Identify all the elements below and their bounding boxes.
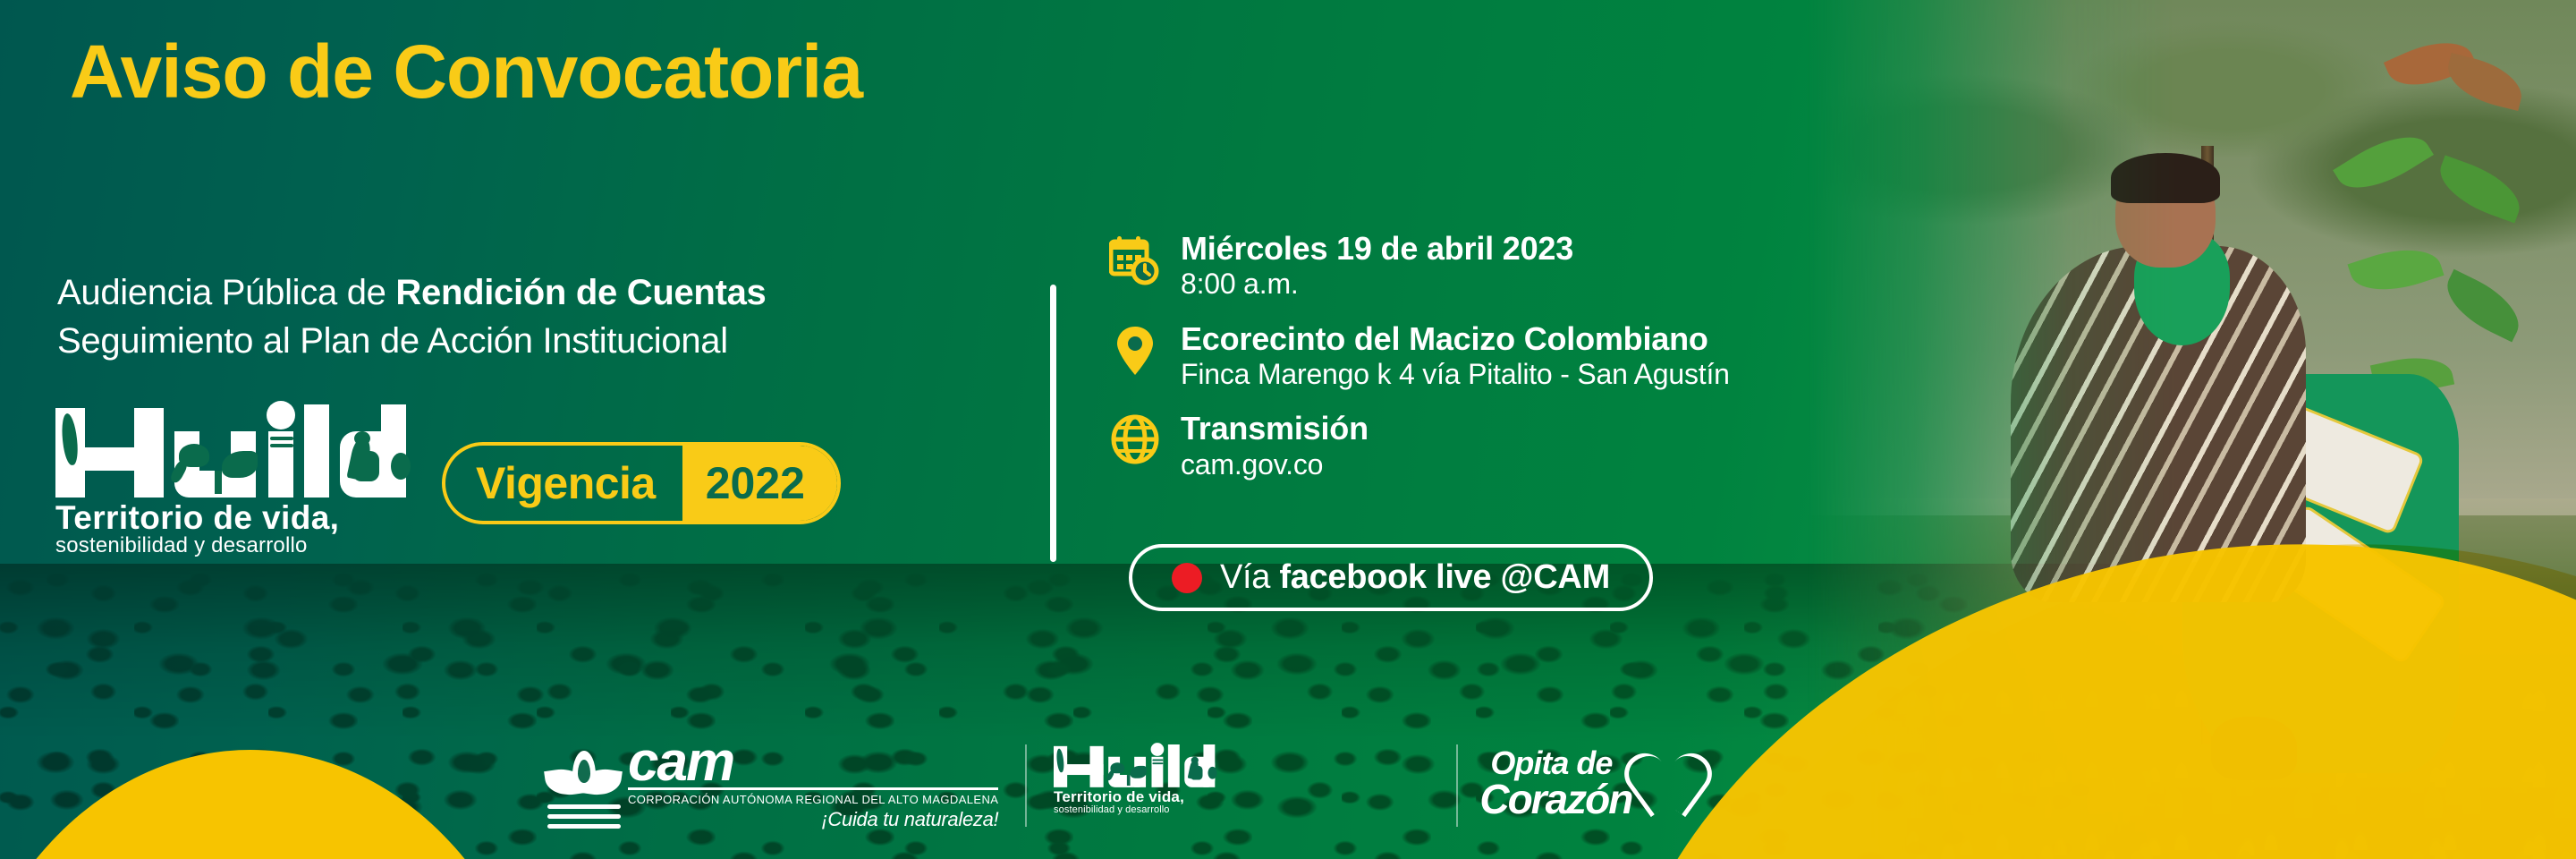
- subtitle-line-1-plain: Audiencia Pública de: [57, 273, 395, 312]
- detail-date-time: 8:00 a.m.: [1181, 267, 1573, 301]
- cam-wordmark: cam: [628, 740, 998, 786]
- opita-line-2: Corazón: [1479, 775, 1631, 823]
- huila-footer-tagline-1: Territorio de vida,: [1054, 789, 1226, 804]
- aviso-de-convocatoria-banner: Aviso de Convocatoria Audiencia Pública …: [0, 0, 2576, 859]
- globe-icon: [1107, 411, 1163, 464]
- vigencia-badge: Vigencia 2022: [442, 442, 841, 524]
- logo-separator: [1456, 744, 1458, 827]
- subtitle-line-1-bold: Rendición de Cuentas: [395, 273, 766, 312]
- huila-footer-tagline-2: sostenibilidad y desarrollo: [1054, 804, 1226, 815]
- facebook-handle: facebook live @CAM: [1279, 558, 1610, 596]
- opita-de-corazon-logo: Opita de Corazón: [1485, 743, 1708, 829]
- huila-tagline-1: Territorio de vida,: [55, 501, 422, 534]
- cam-full-name: CORPORACIÓN AUTÓNOMA REGIONAL DEL ALTO M…: [628, 787, 998, 806]
- logo-separator: [1025, 744, 1027, 827]
- heart-outline-icon: [1628, 739, 1714, 821]
- huila-sun-icon: [267, 401, 295, 429]
- vigencia-year: 2022: [682, 446, 837, 521]
- detail-date-main: Miércoles 19 de abril 2023: [1181, 231, 1573, 267]
- footer-logo-strip: cam CORPORACIÓN AUTÓNOMA REGIONAL DEL AL…: [546, 696, 1708, 859]
- page-title: Aviso de Convocatoria: [70, 34, 862, 109]
- huila-sun-icon-footer: [1151, 743, 1165, 756]
- vertical-divider: [1050, 285, 1056, 562]
- cam-logo: cam CORPORACIÓN AUTÓNOMA REGIONAL DEL AL…: [546, 740, 998, 831]
- huila-water-motif: [270, 437, 293, 440]
- huila-logo-footer: Territorio de vida, sostenibilidad y des…: [1054, 696, 1429, 859]
- cam-slogan: ¡Cuida tu naturaleza!: [628, 808, 998, 831]
- detail-row-stream: Transmisión cam.gov.co: [1107, 411, 2002, 481]
- detail-stream-url: cam.gov.co: [1181, 447, 1368, 481]
- cam-leaf-water-icon: [546, 749, 623, 831]
- facebook-prefix: Vía: [1220, 558, 1279, 596]
- event-details: Miércoles 19 de abril 2023 8:00 a.m. Eco…: [1107, 231, 2002, 501]
- detail-location-main: Ecorecinto del Macizo Colombiano: [1181, 321, 1730, 357]
- photo-hair: [2111, 153, 2221, 203]
- subtitle: Audiencia Pública de Rendición de Cuenta…: [57, 268, 766, 366]
- huila-wordmark-footer: [1054, 744, 1226, 787]
- huila-logo: Territorio de vida, sostenibilidad y des…: [55, 404, 422, 557]
- subtitle-line-1: Audiencia Pública de Rendición de Cuenta…: [57, 268, 766, 317]
- detail-row-date: Miércoles 19 de abril 2023 8:00 a.m.: [1107, 231, 2002, 302]
- calendar-clock-icon: [1107, 231, 1163, 286]
- huila-tagline-2: sostenibilidad y desarrollo: [55, 534, 422, 557]
- vigencia-label: Vigencia: [445, 446, 682, 521]
- detail-stream-main: Transmisión: [1181, 411, 1368, 447]
- live-record-dot-icon: [1172, 563, 1202, 593]
- huila-wordmark: [55, 404, 422, 498]
- facebook-live-label: Vía facebook live @CAM: [1220, 558, 1610, 597]
- subtitle-line-2: Seguimiento al Plan de Acción Institucio…: [57, 317, 766, 365]
- huila-coffee-bean-motif: [391, 453, 411, 480]
- detail-row-location: Ecorecinto del Macizo Colombiano Finca M…: [1107, 321, 2002, 392]
- huila-bird-motif: [222, 451, 258, 478]
- detail-location-address: Finca Marengo k 4 vía Pitalito - San Agu…: [1181, 357, 1730, 391]
- location-pin-icon: [1107, 321, 1163, 377]
- facebook-live-button[interactable]: Vía facebook live @CAM: [1129, 544, 1653, 611]
